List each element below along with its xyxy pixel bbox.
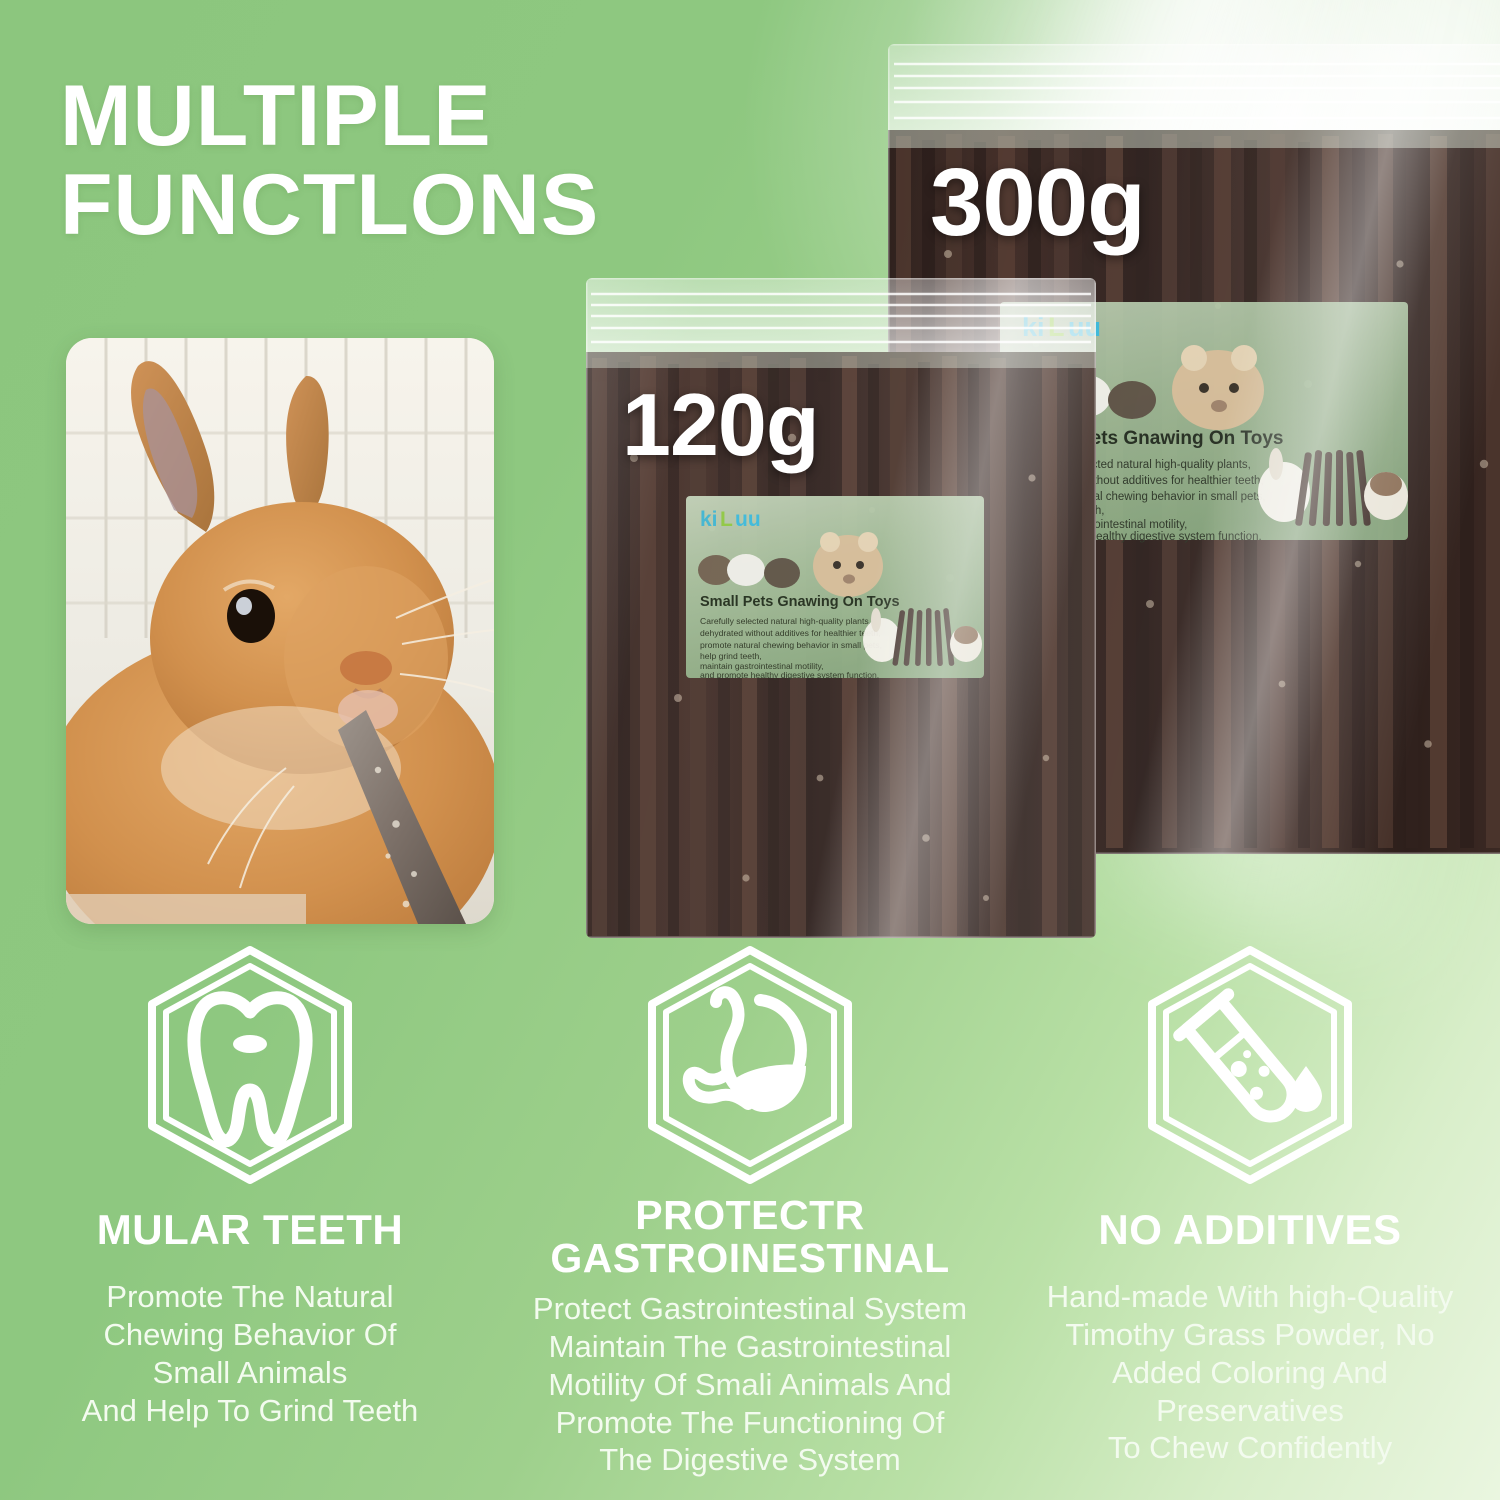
headline-line-1: MULTIPLE bbox=[60, 68, 492, 164]
feature-title: MULAR TEETH bbox=[97, 1208, 403, 1252]
feature-description: Hand-made With high-Quality Timothy Gras… bbox=[1033, 1278, 1468, 1467]
test-tube-icon bbox=[1130, 940, 1370, 1190]
feature-protect-gastrointestinal: PROTECTR GASTROINESTINAL Protect Gastroi… bbox=[500, 940, 1000, 1479]
feature-description: Promote The Natural Chewing Behavior Of … bbox=[68, 1278, 433, 1429]
feature-mular-teeth: MULAR TEETH Promote The Natural Chewing … bbox=[0, 940, 500, 1479]
feature-row: MULAR TEETH Promote The Natural Chewing … bbox=[0, 940, 1500, 1479]
test-tube-icon-hexagon bbox=[1130, 940, 1370, 1190]
tooth-icon bbox=[130, 940, 370, 1190]
product-package-120g: ki L uu Small Pets Gnawing On Toys bbox=[586, 278, 1096, 938]
rabbit-photo-illustration bbox=[66, 338, 494, 924]
tooth-icon-hexagon bbox=[130, 940, 370, 1190]
product-infographic-poster: MULTIPLE FUNCTLONS bbox=[0, 0, 1500, 1500]
stomach-icon-hexagon bbox=[630, 940, 870, 1190]
headline-line-2: FUNCTLONS bbox=[60, 161, 599, 250]
package-120g-illustration: ki L uu Small Pets Gnawing On Toys bbox=[586, 278, 1096, 938]
feature-title: NO ADDITIVES bbox=[1098, 1208, 1401, 1252]
stomach-icon bbox=[630, 940, 870, 1190]
page-title: MULTIPLE FUNCTLONS bbox=[60, 72, 599, 249]
feature-description: Protect Gastrointestinal System Maintain… bbox=[519, 1290, 981, 1479]
feature-title: PROTECTR GASTROINESTINAL bbox=[550, 1194, 949, 1280]
feature-no-additives: NO ADDITIVES Hand-made With high-Quality… bbox=[1000, 940, 1500, 1479]
rabbit-chewing-photo bbox=[66, 338, 494, 924]
